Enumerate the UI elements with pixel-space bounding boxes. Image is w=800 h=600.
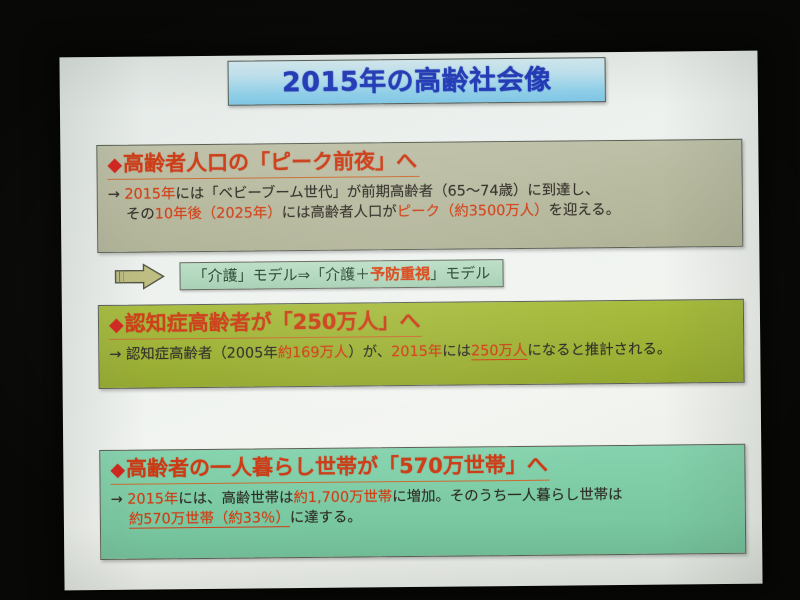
model-text-part: 「介護」モデル⇒「介護＋ xyxy=(192,265,370,285)
body-accent: 約169万人 xyxy=(278,344,349,361)
body-text: その xyxy=(126,207,155,223)
body-text: に増加。そのうち一人暮らし世帯は xyxy=(392,487,622,505)
slide-title: 2015年の高齢社会像 xyxy=(282,67,552,97)
section-panel-peak-eve: ◆高齢者人口の「ピーク前夜」へ → 2015年には「ベビーブーム世代」が前期高齢… xyxy=(96,139,743,253)
model-transition-row: 「介護」モデル⇒「介護＋予防重視」モデル xyxy=(113,257,503,293)
section-body-dementia: → 認知症高齢者（2005年約169万人）が、2015年には250万人になると推… xyxy=(109,339,733,365)
section-heading-text: 認知症高齢者が「250万人」へ xyxy=(125,309,421,336)
slide-title-box: 2015年の高齢社会像 xyxy=(227,57,605,106)
body-accent: 約1,700万世帯 xyxy=(293,489,392,506)
section-heading-dementia: ◆認知症高齢者が「250万人」へ xyxy=(109,308,423,340)
body-text: には「ベビーブーム世代」が前期高齢者（65～74歳）に到達し、 xyxy=(175,182,599,202)
body-accent: 10年後（2025年） xyxy=(155,205,282,222)
model-text: 「介護」モデル⇒「介護＋予防重視」モデル xyxy=(192,266,490,284)
body-arrow-icon: → xyxy=(111,492,123,508)
body-text: 認知症高齢者（2005年 xyxy=(126,345,278,362)
model-text-box: 「介護」モデル⇒「介護＋予防重視」モデル xyxy=(179,259,503,290)
diamond-bullet-icon: ◆ xyxy=(110,459,125,481)
body-text: になると推計される。 xyxy=(527,341,671,358)
body-text: には、高齢世帯は xyxy=(178,490,293,507)
section-heading-text: 高齢者の一人暮らし世帯が「570万世帯」へ xyxy=(126,453,548,481)
body-accent: 2015年 xyxy=(124,186,175,202)
block-arrow-right-icon xyxy=(113,262,165,290)
section-heading-peak-eve: ◆高齢者人口の「ピーク前夜」へ xyxy=(107,148,419,180)
body-text: を迎える。 xyxy=(548,202,620,219)
diamond-bullet-icon: ◆ xyxy=(109,314,124,336)
body-text: に達する。 xyxy=(290,510,362,527)
section-body-single-elderly-households: → 2015年には、高齢世帯は約1,700万世帯に増加。そのうち一人暮らし世帯は… xyxy=(111,484,735,531)
body-accent: ピーク（約3500万人） xyxy=(397,203,549,220)
body-text: ）が、 xyxy=(348,344,391,360)
projected-slide-photo: 2015年の高齢社会像 ◆高齢者人口の「ピーク前夜」へ → 2015年には「ベビ… xyxy=(0,0,800,600)
presentation-slide: 2015年の高齢社会像 ◆高齢者人口の「ピーク前夜」へ → 2015年には「ベビ… xyxy=(59,51,762,591)
section-heading-single-elderly-households: ◆高齢者の一人暮らし世帯が「570万世帯」へ xyxy=(110,452,550,485)
section-body-peak-eve: → 2015年には「ベビーブーム世代」が前期高齢者（65～74歳）に到達し、 そ… xyxy=(108,179,732,226)
diamond-bullet-icon: ◆ xyxy=(107,154,122,176)
body-arrow-icon: → xyxy=(109,347,121,363)
body-text: には高齢者人口が xyxy=(282,204,397,221)
body-accent: 2015年 xyxy=(391,343,442,359)
body-accent-underlined: 250万人 xyxy=(471,343,527,361)
model-text-part: 」モデル xyxy=(430,264,490,283)
section-panel-single-elderly-households: ◆高齢者の一人暮らし世帯が「570万世帯」へ → 2015年には、高齢世帯は約1… xyxy=(99,444,746,560)
body-text: には xyxy=(442,343,471,359)
body-accent: 2015年 xyxy=(127,491,178,507)
section-panel-dementia: ◆認知症高齢者が「250万人」へ → 認知症高齢者（2005年約169万人）が、… xyxy=(98,299,745,389)
model-text-accent: 予防重視 xyxy=(370,264,430,283)
body-arrow-icon: → xyxy=(108,187,120,203)
section-heading-text: 高齢者人口の「ピーク前夜」へ xyxy=(123,149,417,176)
body-accent-underlined: 約570万世帯（約33％） xyxy=(129,510,290,529)
section-body-line2: 約570万世帯（約33％）に達する。 xyxy=(111,504,735,530)
section-body-line2: その10年後（2025年）には高齢者人口がピーク（約3500万人）を迎える。 xyxy=(108,199,732,225)
